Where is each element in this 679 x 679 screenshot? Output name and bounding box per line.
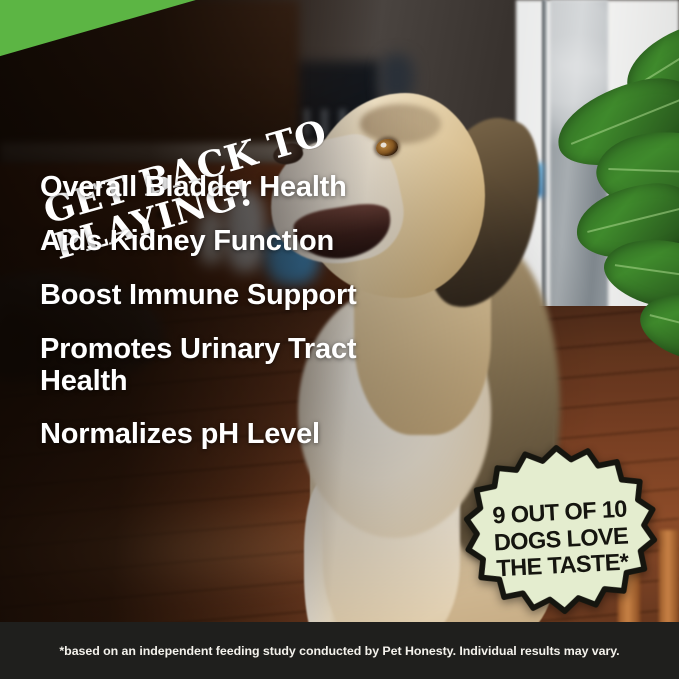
starburst-seal-icon xyxy=(454,439,668,639)
benefit-item-normalizes-ph-level: Normalizes pH Level xyxy=(40,419,370,451)
product-benefit-infographic: Get Back To Playing! Overall Bladder Hea… xyxy=(0,0,679,679)
benefit-item-boost-immune-support: Boost Immune Support xyxy=(40,280,370,312)
benefit-item-aids-kidney-function: Aids Kidney Function xyxy=(40,226,370,258)
taste-badge: 9 Out Of 10 Dogs Love The Taste* xyxy=(454,439,668,639)
disclaimer-bar: *based on an independent feeding study c… xyxy=(0,622,679,679)
benefit-item-promotes-urinary-tract-health: Promotes Urinary Tract Health xyxy=(40,334,370,398)
benefit-list: Overall Bladder Health Aids Kidney Funct… xyxy=(40,172,370,473)
benefit-item-overall-bladder-health: Overall Bladder Health xyxy=(40,172,370,204)
disclaimer-text: *based on an independent feeding study c… xyxy=(59,644,619,658)
